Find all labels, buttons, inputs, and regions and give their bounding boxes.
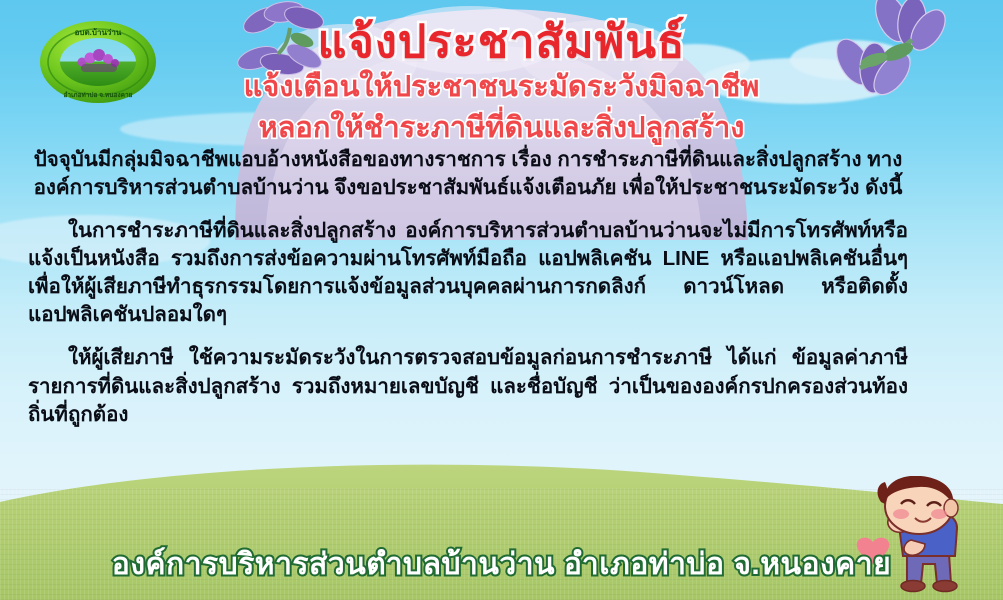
announcement-body: ปัจจุบันมีกลุ่มมิจฉาชีพแอบอ้างหนังสือของ…	[28, 146, 908, 444]
subtitle-line-2: หลอกให้ชำระภาษีที่ดินและสิ่งปลูกสร้าง	[0, 110, 1003, 147]
announcement-poster: อบต.บ้านว่าน อำเภอท่าบ่อ จ.หนองคาย	[0, 0, 1003, 600]
footer: องค์การบริหารส่วนตำบลบ้านว่าน อำเภอท่าบ่…	[0, 541, 1003, 588]
body-paragraph-2: ในการชำระภาษีที่ดินและสิ่งปลูกสร้าง องค์…	[28, 217, 908, 329]
body-paragraph-3: ให้ผู้เสียภาษี ใช้ความระมัดระวังในการตรว…	[28, 344, 908, 428]
page-title: แจ้งประชาสัมพันธ์	[0, 18, 1003, 65]
subtitle-line-1: แจ้งเตือนให้ประชาชนระมัดระวังมิจฉาชีพ	[0, 69, 1003, 106]
body-paragraph-1: ปัจจุบันมีกลุ่มมิจฉาชีพแอบอ้างหนังสือของ…	[28, 146, 908, 202]
title-block: แจ้งประชาสัมพันธ์ แจ้งเตือนให้ประชาชนระม…	[0, 18, 1003, 147]
organization-name: องค์การบริหารส่วนตำบลบ้านว่าน อำเภอท่าบ่…	[112, 541, 891, 588]
